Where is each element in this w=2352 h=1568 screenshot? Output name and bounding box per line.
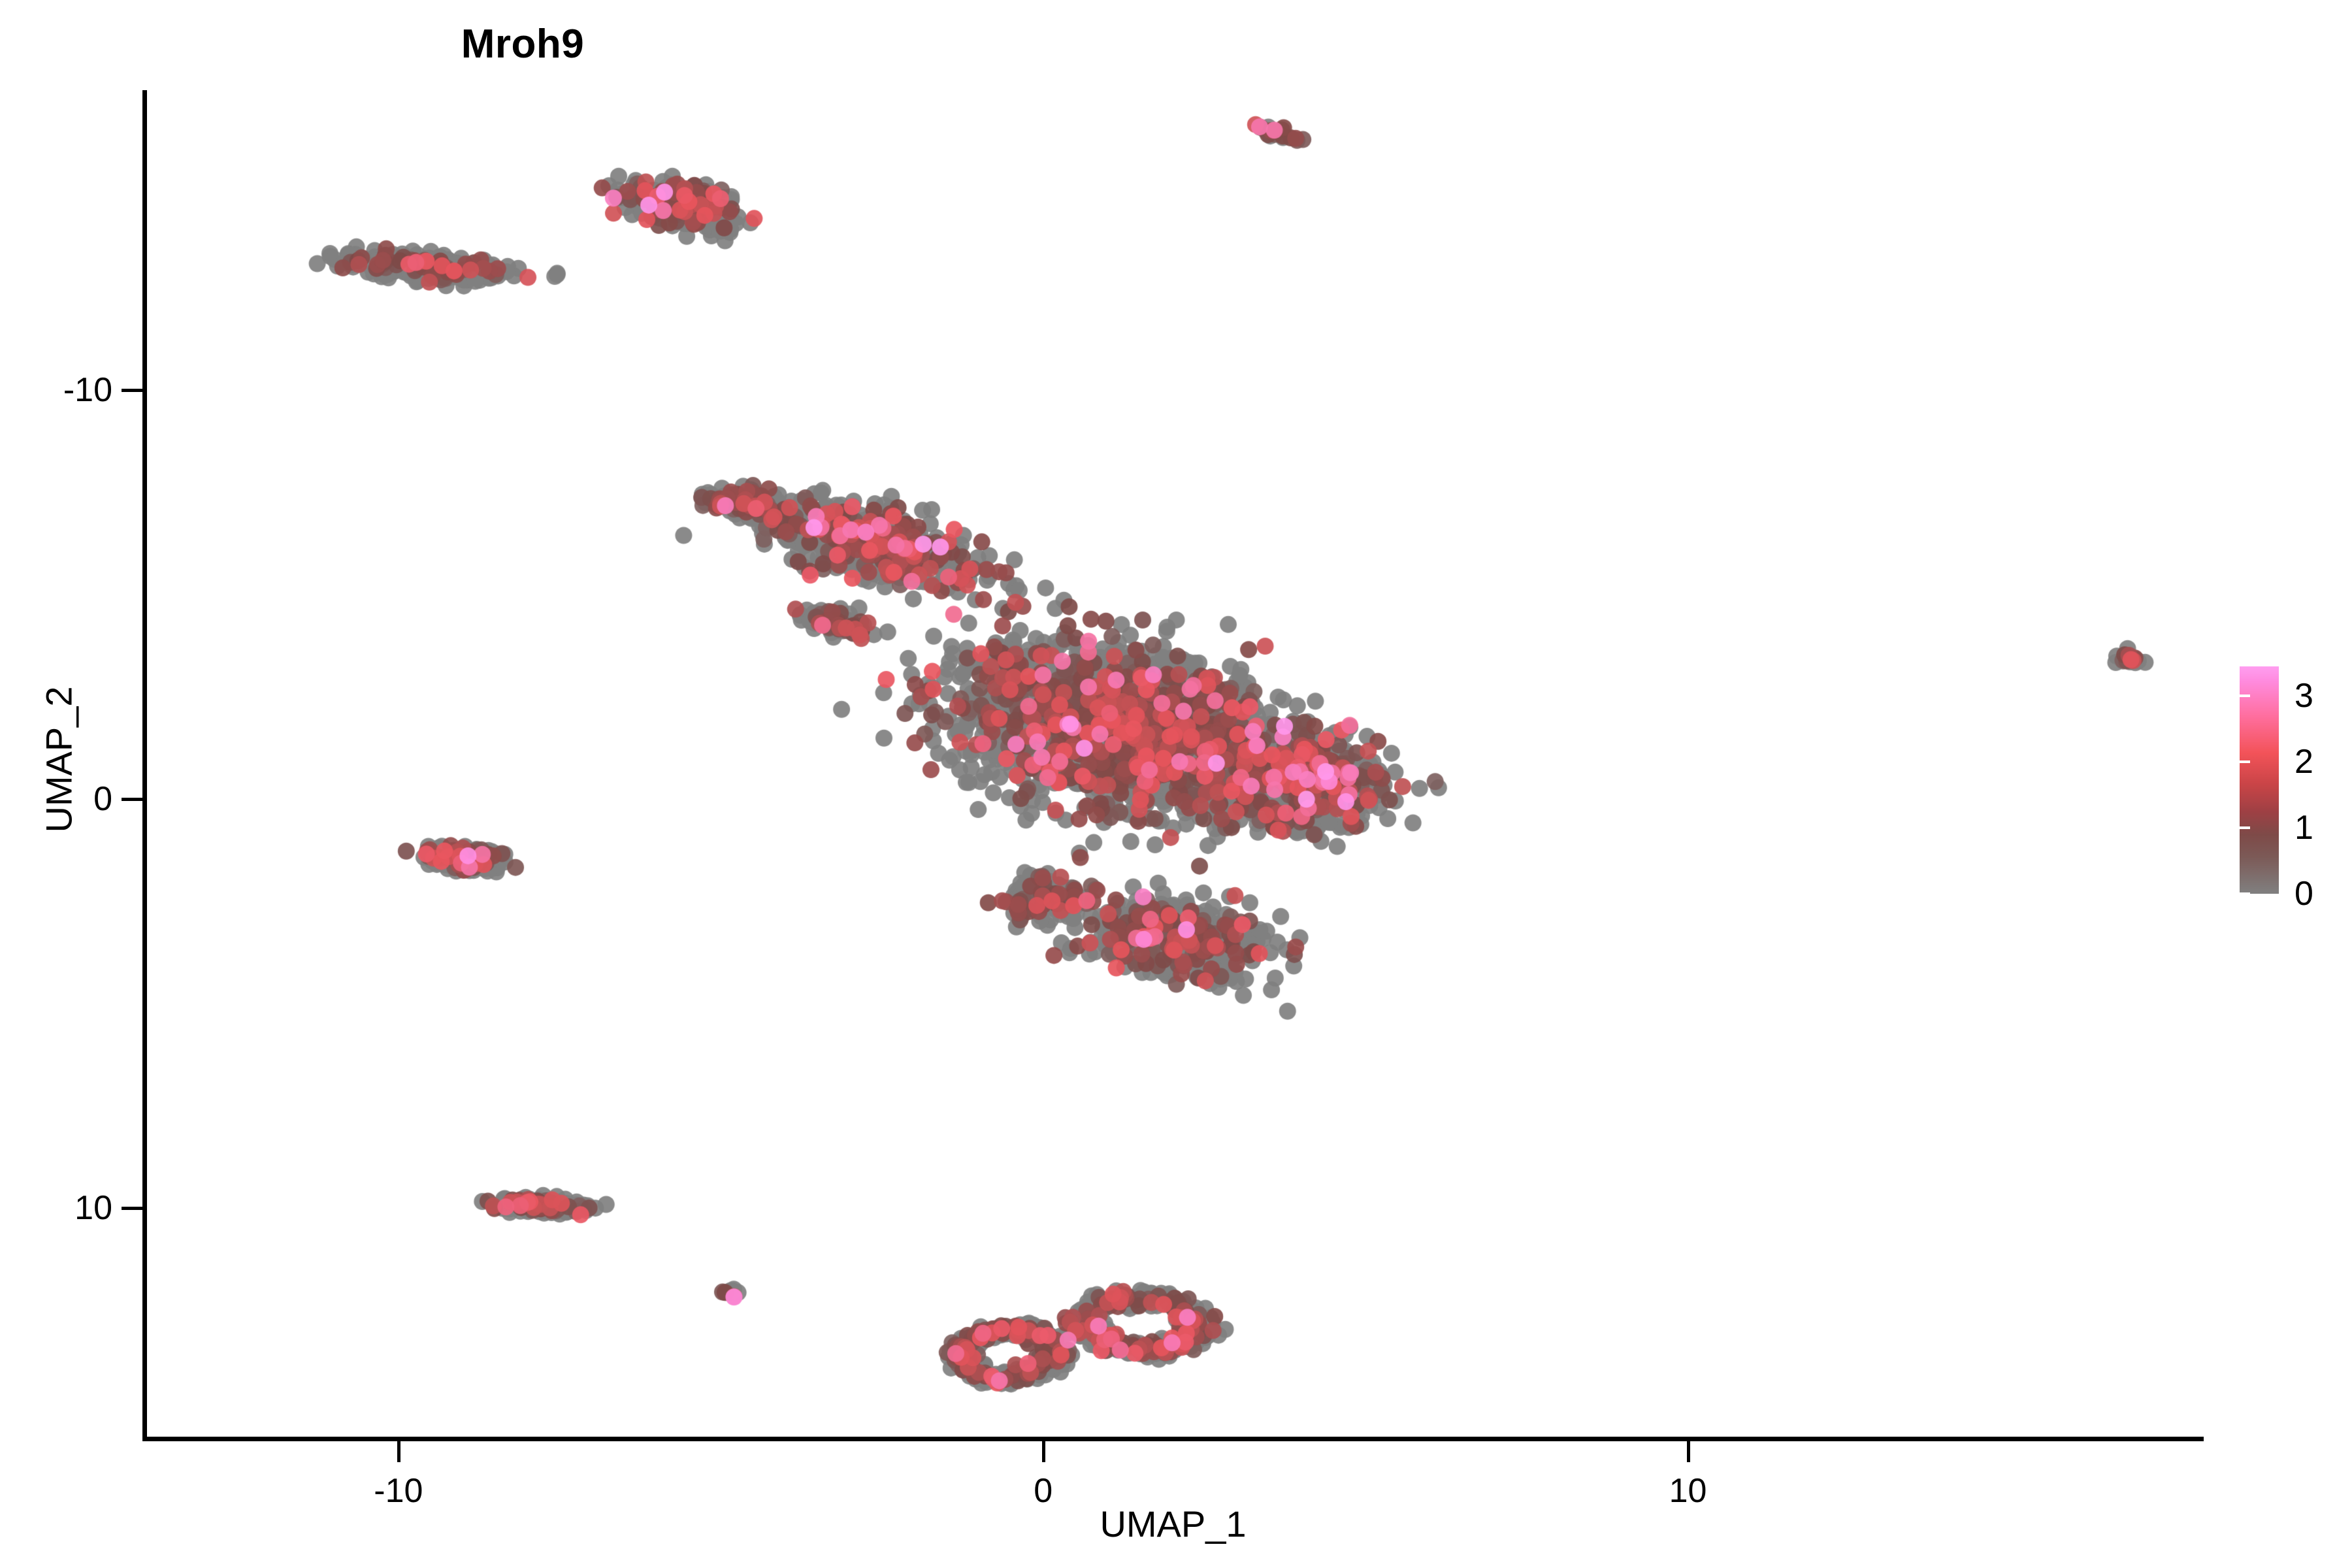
y-axis-title: UMAP_2 [38, 400, 80, 1119]
y-tick-mark [122, 1207, 142, 1210]
x-tick-mark [397, 1441, 400, 1462]
y-tick-mark [122, 798, 142, 801]
colorbar-tick-mark [2327, 760, 2338, 763]
page-title: Mroh9 [0, 21, 2352, 67]
colorbar-legend: 3210 [2240, 666, 2338, 894]
colorbar-tick-label: 2 [2295, 745, 2313, 779]
plot-title-text: Mroh9 [461, 21, 585, 67]
colorbar-tick-mark [2240, 760, 2250, 763]
scatter-panel [147, 91, 2204, 1437]
colorbar-tick-mark [2327, 892, 2338, 895]
x-tick-mark [1687, 1441, 1690, 1462]
scatter-points [147, 91, 2204, 1437]
colorbar-tick-mark [2327, 694, 2338, 697]
y-axis-line [142, 90, 147, 1441]
x-axis-line [142, 1437, 2204, 1441]
x-axis-title: UMAP_1 [142, 1503, 2204, 1545]
y-tick-label: 10 [74, 1188, 112, 1228]
colorbar-tick-label: 3 [2295, 679, 2313, 713]
colorbar-tick-label: 1 [2295, 811, 2313, 845]
umap-feature-plot: Mroh9 100-10 -10010 UMAP_1 UMAP_2 3210 [0, 0, 2352, 1568]
colorbar-gradient [2240, 666, 2279, 894]
x-tick-mark [1042, 1441, 1045, 1462]
colorbar-tick-mark [2327, 826, 2338, 829]
colorbar-tick-mark [2240, 892, 2250, 895]
colorbar-tick-mark [2240, 826, 2250, 829]
y-tick-label: 0 [93, 779, 112, 819]
y-tick-mark [122, 389, 142, 392]
colorbar-tick-mark [2240, 694, 2250, 697]
colorbar-tick-label: 0 [2295, 877, 2313, 911]
